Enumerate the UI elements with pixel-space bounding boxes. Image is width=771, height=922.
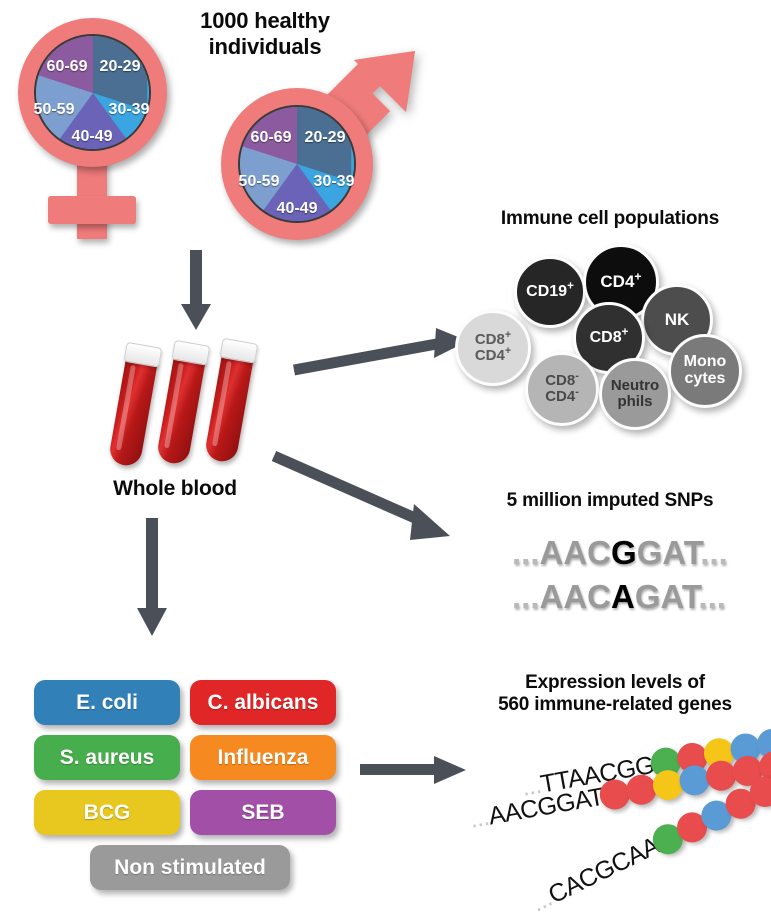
arrow-blood-to-stimuli	[132, 518, 172, 638]
figure-canvas: 1000 healthy individuals 20-29 30-39 40-…	[0, 0, 771, 922]
snp-left: AAC	[540, 534, 612, 571]
immune-cell-monocytes: Monocytes	[668, 334, 742, 408]
stimulus-pill-s-aureus[interactable]: S. aureus	[34, 735, 180, 780]
snp-title: 5 million imputed SNPs	[455, 490, 765, 512]
pie-label-50-59: 50-59	[239, 173, 280, 191]
immune-cell-label: NK	[665, 311, 690, 329]
stimulus-pill-non-stimulated[interactable]: Non stimulated	[90, 845, 290, 890]
immune-cell-label: Neutrophils	[611, 378, 659, 409]
pie-label-60-69: 60-69	[47, 58, 88, 76]
snp-variant: A	[611, 578, 635, 615]
whole-blood-label: Whole blood	[80, 477, 270, 502]
immune-cell-cd8p-cd4p: CD8+CD4+	[455, 310, 531, 386]
arrow-subjects-to-blood	[176, 250, 216, 332]
snp-suffix: ...	[700, 534, 728, 571]
expression-title-line-1: Expression levels of	[462, 672, 768, 694]
immune-cell-label: CD8+	[590, 330, 629, 347]
pie-label-40-49: 40-49	[72, 128, 113, 146]
immune-cell-cd19p: CD19+	[514, 256, 586, 328]
immune-cell-cluster: CD8+CD4+ CD19+ CD4+ NK CD8+ CD8-CD4- Neu…	[455, 240, 765, 425]
expression-title-line-2: 560 immune-related genes	[462, 694, 768, 716]
strand-bases: CACGCAA	[544, 831, 664, 909]
arrow-blood-to-snps	[272, 450, 462, 550]
snp-suffix: ...	[698, 578, 726, 615]
immune-cell-label: CD4+	[600, 273, 641, 291]
immune-cell-label: CD8+CD4+	[475, 332, 511, 363]
immune-cell-label: CD19+	[526, 284, 574, 301]
pie-label-30-39: 30-39	[109, 101, 150, 119]
pie-label-20-29: 20-29	[305, 129, 346, 147]
pie-label-30-39: 30-39	[314, 173, 355, 191]
snp-sequence-row: ...AACGGAT...	[512, 534, 728, 572]
pie-label-20-29: 20-29	[100, 58, 141, 76]
snp-prefix: ...	[512, 534, 540, 571]
immune-cell-label: CD8-CD4-	[545, 373, 579, 404]
pie-label-50-59: 50-59	[34, 101, 75, 119]
blood-tube	[108, 342, 161, 468]
stimulus-pill-seb[interactable]: SEB	[190, 790, 336, 835]
pie-label-60-69: 60-69	[251, 129, 292, 147]
blood-tube	[204, 338, 257, 464]
snp-variant: G	[611, 534, 637, 571]
snp-right: GAT	[637, 534, 701, 571]
immune-cell-title: Immune cell populations	[455, 208, 765, 230]
expression-title: Expression levels of 560 immune-related …	[462, 672, 768, 717]
expression-strand-sequence: ...CACGCAA	[527, 831, 664, 918]
stimulus-pill-influenza[interactable]: Influenza	[190, 735, 336, 780]
blood-tube	[156, 340, 209, 466]
immune-cell-cd8n-cd4n: CD8-CD4-	[525, 352, 599, 426]
stimulus-pill-e-coli[interactable]: E. coli	[34, 680, 180, 725]
female-symbol-cross	[48, 196, 136, 224]
stimulus-pill-bcg[interactable]: BCG	[34, 790, 180, 835]
snp-left: AAC	[540, 578, 612, 615]
immune-cell-label: Monocytes	[684, 354, 727, 387]
stimulus-pill-c-albicans[interactable]: C. albicans	[190, 680, 336, 725]
snp-right: GAT	[635, 578, 699, 615]
arrow-blood-to-immune	[292, 328, 472, 380]
blood-tubes-group	[110, 340, 280, 470]
immune-cell-neutrophils: Neutrophils	[599, 358, 671, 430]
arrow-stimuli-to-expression	[360, 752, 470, 788]
snp-sequence-row: ...AACAGAT...	[512, 578, 726, 616]
female-symbol: 20-29 30-39 40-49 50-59 60-69	[10, 14, 210, 244]
pie-label-40-49: 40-49	[277, 200, 318, 218]
male-symbol: 20-29 30-39 40-49 50-59 60-69	[205, 46, 430, 241]
snp-prefix: ...	[512, 578, 540, 615]
